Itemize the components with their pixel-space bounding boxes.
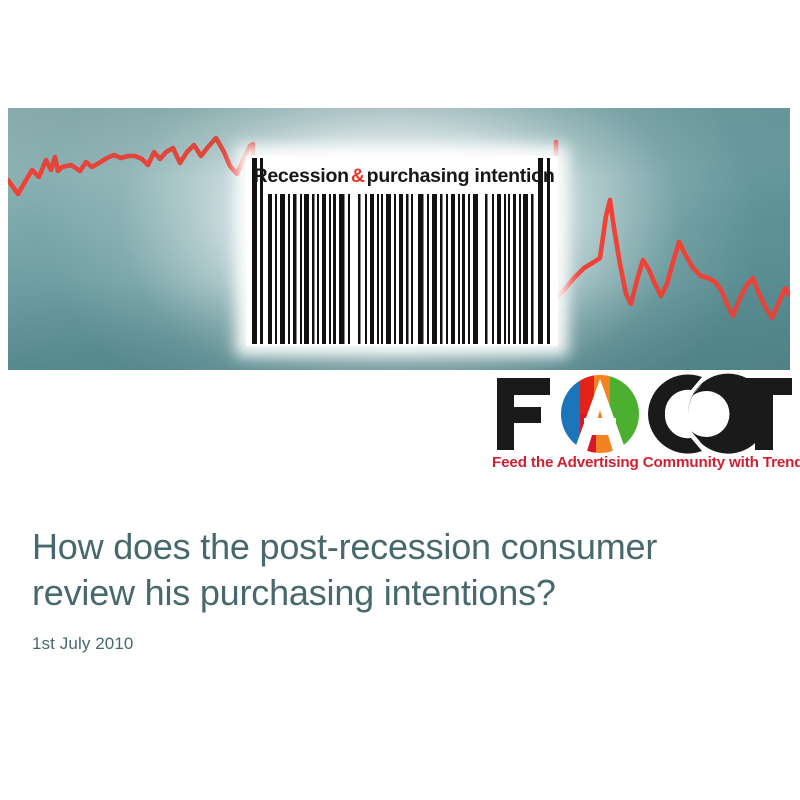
page-title-line-2: review his purchasing intentions?: [32, 570, 762, 616]
fact-wordmark: [492, 372, 794, 454]
slide-date: 1st July 2010: [32, 634, 762, 654]
logo-letter-f: [497, 378, 550, 450]
slide-canvas: Recession & purchasing intention: [0, 0, 800, 800]
page-title-line-1: How does the post-recession consumer: [32, 524, 762, 570]
fact-logo-tagline: Feed the Advertising Community with Tren…: [492, 454, 794, 471]
trend-line-right: [556, 142, 790, 318]
title-block: How does the post-recession consumer rev…: [32, 524, 762, 654]
trend-line-left: [8, 138, 253, 300]
recession-banner: Recession & purchasing intention: [8, 108, 790, 370]
fact-logo: Feed the Advertising Community with Tren…: [492, 372, 794, 480]
logo-letter-a-wheel: [558, 372, 642, 454]
barcode-caption-prefix: Recession: [254, 165, 349, 188]
barcode-caption: Recession & purchasing intention: [268, 161, 540, 191]
barcode-graphic: Recession & purchasing intention: [246, 156, 558, 346]
barcode-caption-suffix: purchasing intention: [367, 165, 555, 188]
barcode-caption-ampersand: &: [349, 165, 367, 188]
page-title: How does the post-recession consumer rev…: [32, 524, 762, 616]
